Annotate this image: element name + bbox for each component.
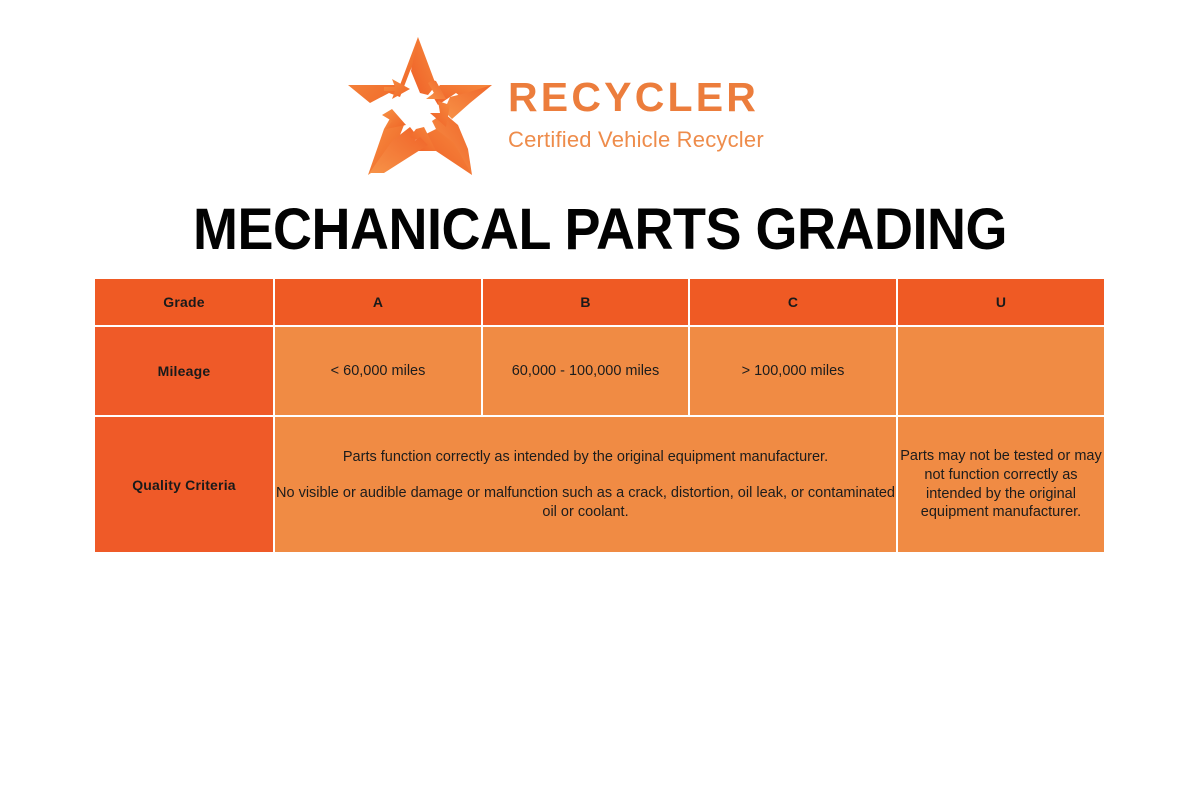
header-cell-grade: Grade bbox=[95, 279, 275, 327]
logo-wordmark: RECYCLER bbox=[508, 77, 764, 118]
header-cell-a: A bbox=[275, 279, 483, 327]
table-row-mileage: Mileage < 60,000 miles 60,000 - 100,000 … bbox=[95, 327, 1104, 417]
cell-mileage-u bbox=[898, 327, 1104, 417]
row-label-mileage: Mileage bbox=[95, 327, 275, 417]
cell-quality-criteria-u: Parts may not be tested or may not funct… bbox=[898, 417, 1104, 552]
cell-quality-criteria-abc: Parts function correctly as intended by … bbox=[275, 417, 898, 552]
quality-criteria-paragraph-1: Parts function correctly as intended by … bbox=[275, 448, 896, 466]
recycling-star-icon bbox=[340, 33, 500, 183]
header-cell-u: U bbox=[898, 279, 1104, 327]
header-cell-b: B bbox=[483, 279, 690, 327]
row-label-quality-criteria: Quality Criteria bbox=[95, 417, 275, 552]
page-title: MECHANICAL PARTS GRADING bbox=[42, 196, 1158, 263]
logo-text-block: RECYCLER Certified Vehicle Recycler bbox=[508, 61, 764, 151]
cell-mileage-a: < 60,000 miles bbox=[275, 327, 483, 417]
brand-logo: RECYCLER Certified Vehicle Recycler bbox=[340, 28, 770, 183]
cell-mileage-c: > 100,000 miles bbox=[690, 327, 898, 417]
cell-mileage-b: 60,000 - 100,000 miles bbox=[483, 327, 690, 417]
header-cell-c: C bbox=[690, 279, 898, 327]
table-header-row: Grade A B C U bbox=[95, 279, 1104, 327]
logo-tagline: Certified Vehicle Recycler bbox=[508, 129, 764, 151]
quality-criteria-paragraph-2: No visible or audible damage or malfunct… bbox=[275, 484, 896, 520]
table-row-quality-criteria: Quality Criteria Parts function correctl… bbox=[95, 417, 1104, 552]
mechanical-parts-grading-table: Grade A B C U Mileage < 60,000 miles 60,… bbox=[95, 279, 1104, 552]
